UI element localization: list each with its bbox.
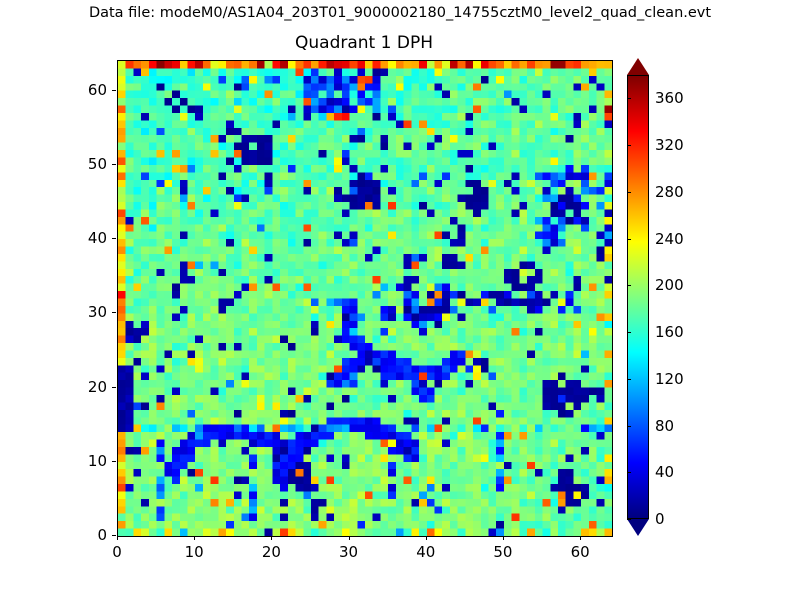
colorbar-tick-label: 280 [655,183,684,201]
colorbar-tick-mark [627,285,631,286]
colorbar-gradient [628,76,648,518]
x-tick-mark [426,536,427,540]
y-tick-mark [112,90,116,91]
heatmap-image[interactable] [118,61,612,536]
y-tick-mark [112,535,116,536]
x-tick-label: 40 [416,543,435,561]
y-tick-mark [112,164,116,165]
colorbar-tick-mark [627,472,631,473]
heatmap-plot-area[interactable] [117,60,613,537]
plot-title: Quadrant 1 DPH [117,33,611,53]
y-tick-label: 20 [75,378,107,396]
colorbar-tick-label: 360 [655,89,684,107]
x-tick-mark [503,536,504,540]
x-tick-label: 10 [185,543,204,561]
colorbar-tick-label: 80 [655,417,674,435]
x-tick-mark [194,536,195,540]
y-tick-mark [112,312,116,313]
colorbar-tick-mark [627,98,631,99]
y-tick-label: 60 [75,81,107,99]
y-tick-label: 50 [75,155,107,173]
x-tick-mark [117,536,118,540]
colorbar-tick-label: 160 [655,323,684,341]
x-tick-label: 20 [262,543,281,561]
colorbar-tick-mark [627,192,631,193]
data-file-label: Data file: modeM0/AS1A04_203T01_90000021… [0,5,800,21]
colorbar-tick-mark [627,145,631,146]
x-tick-label: 50 [493,543,512,561]
colorbar-tick-mark [627,379,631,380]
colorbar-tick-mark [627,332,631,333]
colorbar-tick-label: 320 [655,136,684,154]
y-tick-label: 30 [75,303,107,321]
colorbar-tick-label: 240 [655,230,684,248]
x-tick-mark [580,536,581,540]
x-tick-label: 60 [571,543,590,561]
colorbar-tick-label: 0 [655,510,665,528]
y-tick-mark [112,387,116,388]
y-tick-label: 0 [75,526,107,544]
colorbar-tick-label: 200 [655,276,684,294]
colorbar-tick-mark [627,519,631,520]
colorbar-extend-min-arrow-icon [627,519,649,536]
colorbar-extend-max-arrow-icon [627,58,649,75]
y-tick-label: 40 [75,229,107,247]
colorbar-body [627,75,649,519]
colorbar-tick-label: 120 [655,370,684,388]
x-tick-label: 0 [112,543,122,561]
x-tick-mark [271,536,272,540]
colorbar-tick-mark [627,426,631,427]
colorbar-tick-label: 40 [655,463,674,481]
y-tick-mark [112,461,116,462]
colorbar-tick-mark [627,239,631,240]
x-tick-mark [349,536,350,540]
x-tick-label: 30 [339,543,358,561]
figure-canvas: Data file: modeM0/AS1A04_203T01_90000021… [0,0,800,600]
y-tick-label: 10 [75,452,107,470]
y-tick-mark [112,238,116,239]
colorbar[interactable]: 04080120160200240280320360 [627,75,649,519]
